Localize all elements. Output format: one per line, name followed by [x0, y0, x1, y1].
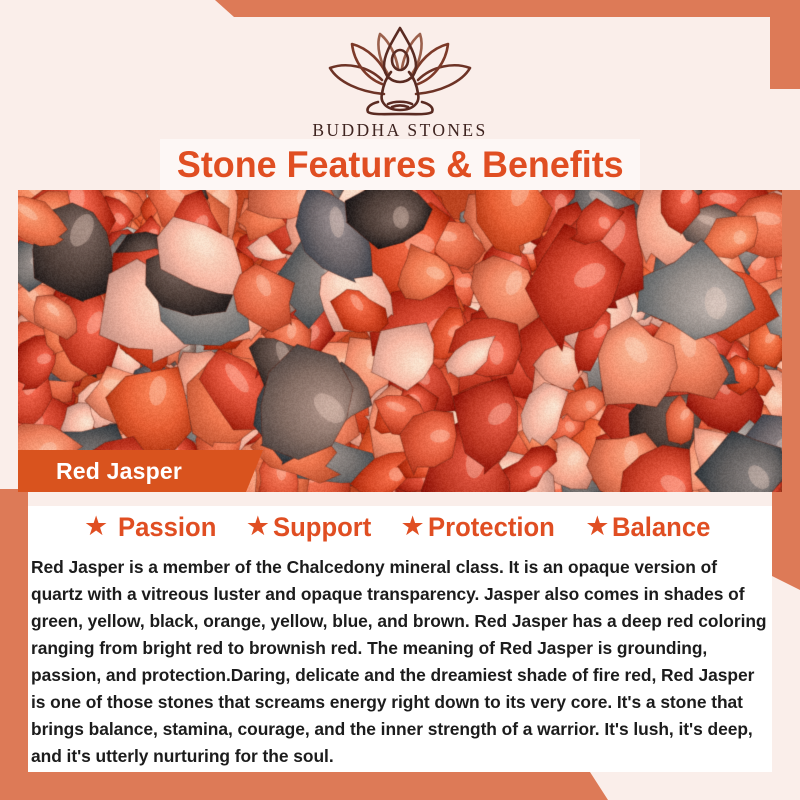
- star-icon: ★: [585, 513, 609, 540]
- benefit-label: Protection: [428, 512, 555, 543]
- page-title: Stone Features & Benefits: [177, 144, 624, 186]
- benefit-item: ★ Support: [246, 512, 377, 543]
- star-icon: ★: [84, 513, 108, 540]
- content-panel: ★ Passion ★ Support ★ Protection ★ Balan…: [28, 492, 772, 772]
- benefit-item: ★ Balance: [585, 512, 716, 543]
- header: BUDDHA STONES Stone Features & Benefits: [0, 0, 800, 190]
- title-plate: Stone Features & Benefits: [160, 139, 640, 191]
- bottom-accent-band: [0, 772, 800, 800]
- description-text: Red Jasper is a member of the Chalcedony…: [28, 554, 772, 770]
- benefit-item: ★ Protection: [400, 512, 561, 543]
- left-accent-strip: [0, 489, 28, 772]
- stone-name-banner: Red Jasper: [18, 450, 263, 492]
- panel-top-strip: [28, 492, 772, 506]
- stone-name-label: Red Jasper: [18, 458, 182, 485]
- brand-logo: BUDDHA STONES: [0, 22, 800, 141]
- infographic-page: BUDDHA STONES Stone Features & Benefits …: [0, 0, 800, 800]
- benefit-item: ★ Passion: [84, 512, 222, 543]
- lotus-meditation-icon: [316, 22, 484, 118]
- benefit-label: Balance: [612, 512, 710, 543]
- benefit-label: Support: [273, 512, 371, 543]
- stone-photo: [18, 190, 782, 492]
- brand-name: BUDDHA STONES: [0, 120, 800, 141]
- benefits-row: ★ Passion ★ Support ★ Protection ★ Balan…: [28, 512, 772, 543]
- stone-photo-canvas: [18, 190, 782, 492]
- benefit-label: Passion: [118, 512, 216, 543]
- star-icon: ★: [400, 513, 424, 540]
- star-icon: ★: [246, 513, 270, 540]
